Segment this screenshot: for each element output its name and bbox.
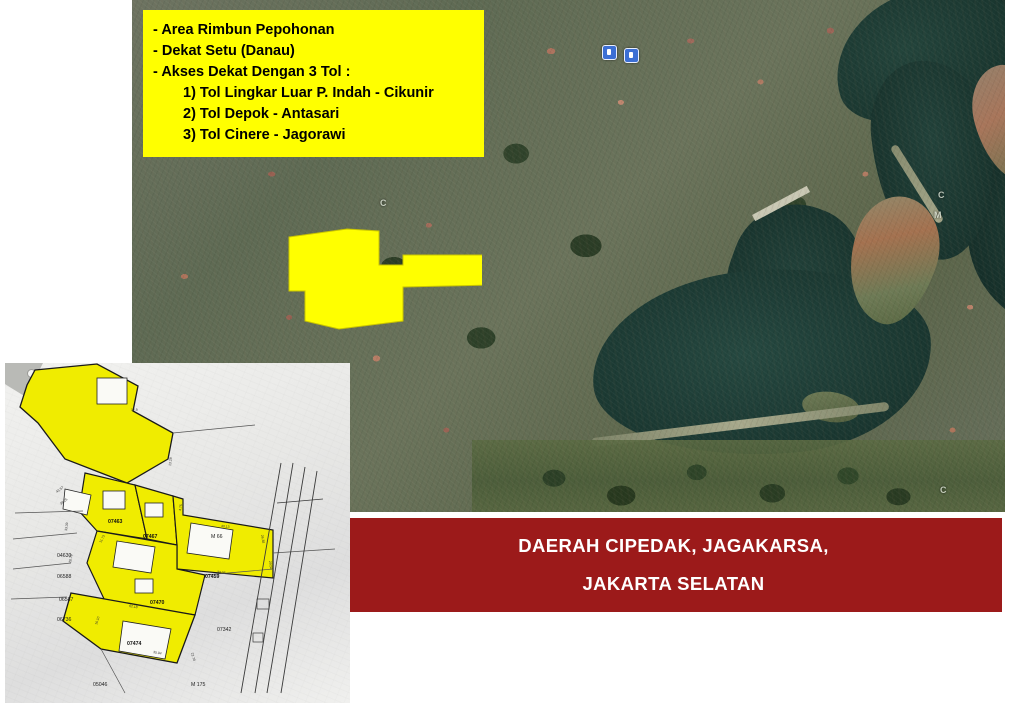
poi-marker-1[interactable] xyxy=(602,45,615,60)
boundary-line-west xyxy=(15,511,83,513)
parcel-shape-north xyxy=(20,364,173,483)
feature-item-4: 2) Tol Depok - Antasari xyxy=(153,104,476,125)
neighbor-label-05046: 05046 xyxy=(93,682,108,688)
feature-item-3: 1) Tol Lingkar Luar P. Indah - Cikunir xyxy=(153,83,476,104)
building-footprint-1 xyxy=(97,378,127,404)
parcel-label-07463: 07463 xyxy=(108,519,123,525)
dimension-label-0: 43.57 xyxy=(55,485,64,493)
neighbor-label-06736: 06736 xyxy=(57,617,72,623)
feature-item-1: - Dekat Setu (Danau) xyxy=(153,41,476,62)
neighbor-label-m175: M 175 xyxy=(191,682,206,688)
dimension-label-12: 33.39 xyxy=(64,522,69,531)
building-footprint-2 xyxy=(103,491,125,509)
banner-line-2: JAKARTA SELATAN xyxy=(582,565,764,603)
building-footprint-3 xyxy=(145,503,163,517)
property-features-callout: - Area Rimbun Pepohonan - Dekat Setu (Da… xyxy=(143,10,484,157)
road-marker-box-2 xyxy=(253,633,263,642)
map-letter-m: M xyxy=(934,210,942,220)
feature-item-5: 3) Tol Cinere - Jagorawi xyxy=(153,125,476,146)
building-footprint-6 xyxy=(135,579,153,593)
site-highlight-polygon xyxy=(287,225,482,335)
parcel-label-07459: 07459 xyxy=(205,574,220,580)
map-letter-c-3: C xyxy=(940,485,947,495)
neighbor-label-07342: 07342 xyxy=(217,627,232,633)
road-marker-box xyxy=(257,599,269,609)
parcel-label-07474: 07474 xyxy=(127,641,142,647)
parcel-label-07470: 07470 xyxy=(150,600,165,606)
cadastral-plan-panel: 07463 07467 07459 07470 07474 04630 0658… xyxy=(5,363,350,703)
location-title-banner: DAERAH CIPEDAK, JAGAKARSA, JAKARTA SELAT… xyxy=(345,518,1002,612)
feature-item-0: - Area Rimbun Pepohonan xyxy=(153,20,476,41)
property-features-list: - Area Rimbun Pepohonan - Dekat Setu (Da… xyxy=(143,20,484,146)
cadastral-drawing: 07463 07467 07459 07470 07474 04630 0658… xyxy=(5,363,350,703)
poi-marker-2[interactable] xyxy=(624,48,637,63)
building-footprint-4 xyxy=(113,541,155,573)
road-crossline xyxy=(277,499,323,503)
boundary-line-west-3 xyxy=(13,563,71,569)
dimension-label-6: 20.78 xyxy=(68,554,73,563)
boundary-line-west-2 xyxy=(13,533,77,539)
boundary-line-north xyxy=(173,425,255,433)
banner-line-1: DAERAH CIPEDAK, JAGAKARSA, xyxy=(518,527,829,565)
feature-item-2: - Akses Dekat Dengan 3 Tol : xyxy=(153,62,476,83)
dimension-label-8: 12.9 xyxy=(131,408,138,412)
neighbor-label-06587: 06587 xyxy=(59,597,74,603)
map-letter-c-2: C xyxy=(938,190,945,200)
neighbor-label-06588: 06588 xyxy=(57,574,72,580)
map-letter-c-1: C xyxy=(380,198,387,208)
neighbor-label-m66: M 66 xyxy=(211,534,223,540)
dimension-label-13: 22.70 xyxy=(190,652,196,661)
dimension-label-7: 13.28 xyxy=(168,457,173,466)
parcel-label-07467: 07467 xyxy=(143,534,158,540)
